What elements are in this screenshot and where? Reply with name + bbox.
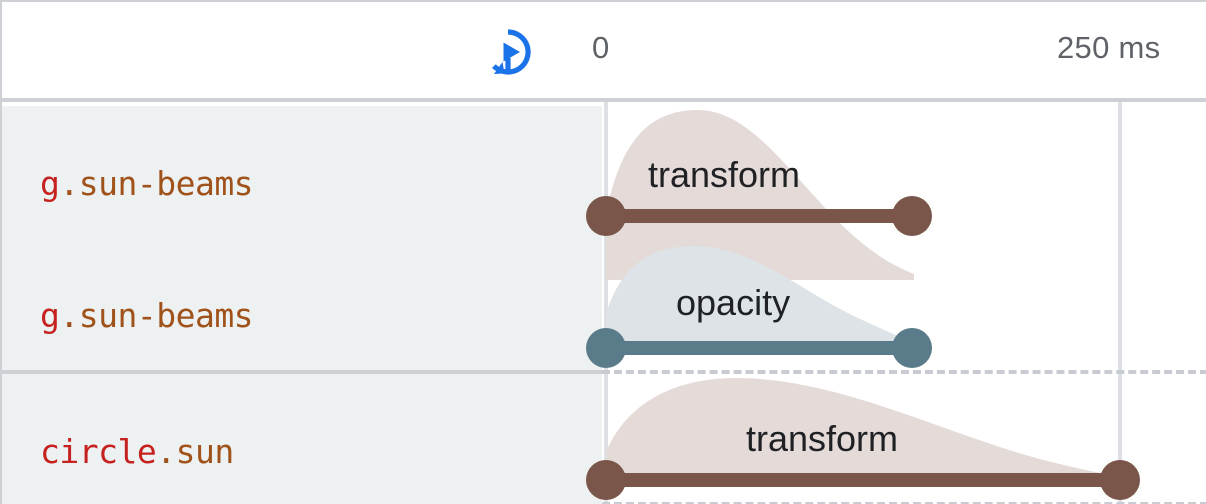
replay-icon[interactable] bbox=[480, 24, 536, 80]
selector-class: .sun bbox=[156, 432, 233, 471]
animation-bar[interactable] bbox=[604, 341, 914, 355]
selector-class: .sun-beams bbox=[59, 296, 253, 335]
timeline-end-label: 250 ms bbox=[1057, 30, 1160, 66]
animation-start-handle[interactable] bbox=[586, 328, 626, 368]
animation-selector: g.sun-beams bbox=[40, 164, 253, 203]
timeline-header: 0 250 ms bbox=[2, 2, 1206, 102]
animation-selector: circle.sun bbox=[40, 432, 234, 471]
animation-bar[interactable] bbox=[604, 209, 914, 223]
selector-class: .sun-beams bbox=[59, 164, 253, 203]
animation-end-handle[interactable] bbox=[892, 328, 932, 368]
selector-tag: g bbox=[40, 164, 59, 203]
selector-tag: circle bbox=[40, 432, 156, 471]
replay-icon-glyph bbox=[480, 24, 536, 80]
animation-start-handle[interactable] bbox=[586, 196, 626, 236]
timeline-start-label: 0 bbox=[592, 30, 610, 66]
animation-bar[interactable] bbox=[604, 473, 1122, 487]
animation-property-label: opacity bbox=[676, 282, 790, 324]
animation-selector: g.sun-beams bbox=[40, 296, 253, 335]
animations-timeline-panel: 0 250 ms g.sun-beams transform g.sun-bea… bbox=[0, 0, 1206, 504]
animation-property-label: transform bbox=[648, 154, 800, 196]
animation-property-label: transform bbox=[746, 418, 898, 460]
selector-tag: g bbox=[40, 296, 59, 335]
animation-end-handle[interactable] bbox=[1100, 460, 1140, 500]
animation-start-handle[interactable] bbox=[586, 460, 626, 500]
animation-end-handle[interactable] bbox=[892, 196, 932, 236]
